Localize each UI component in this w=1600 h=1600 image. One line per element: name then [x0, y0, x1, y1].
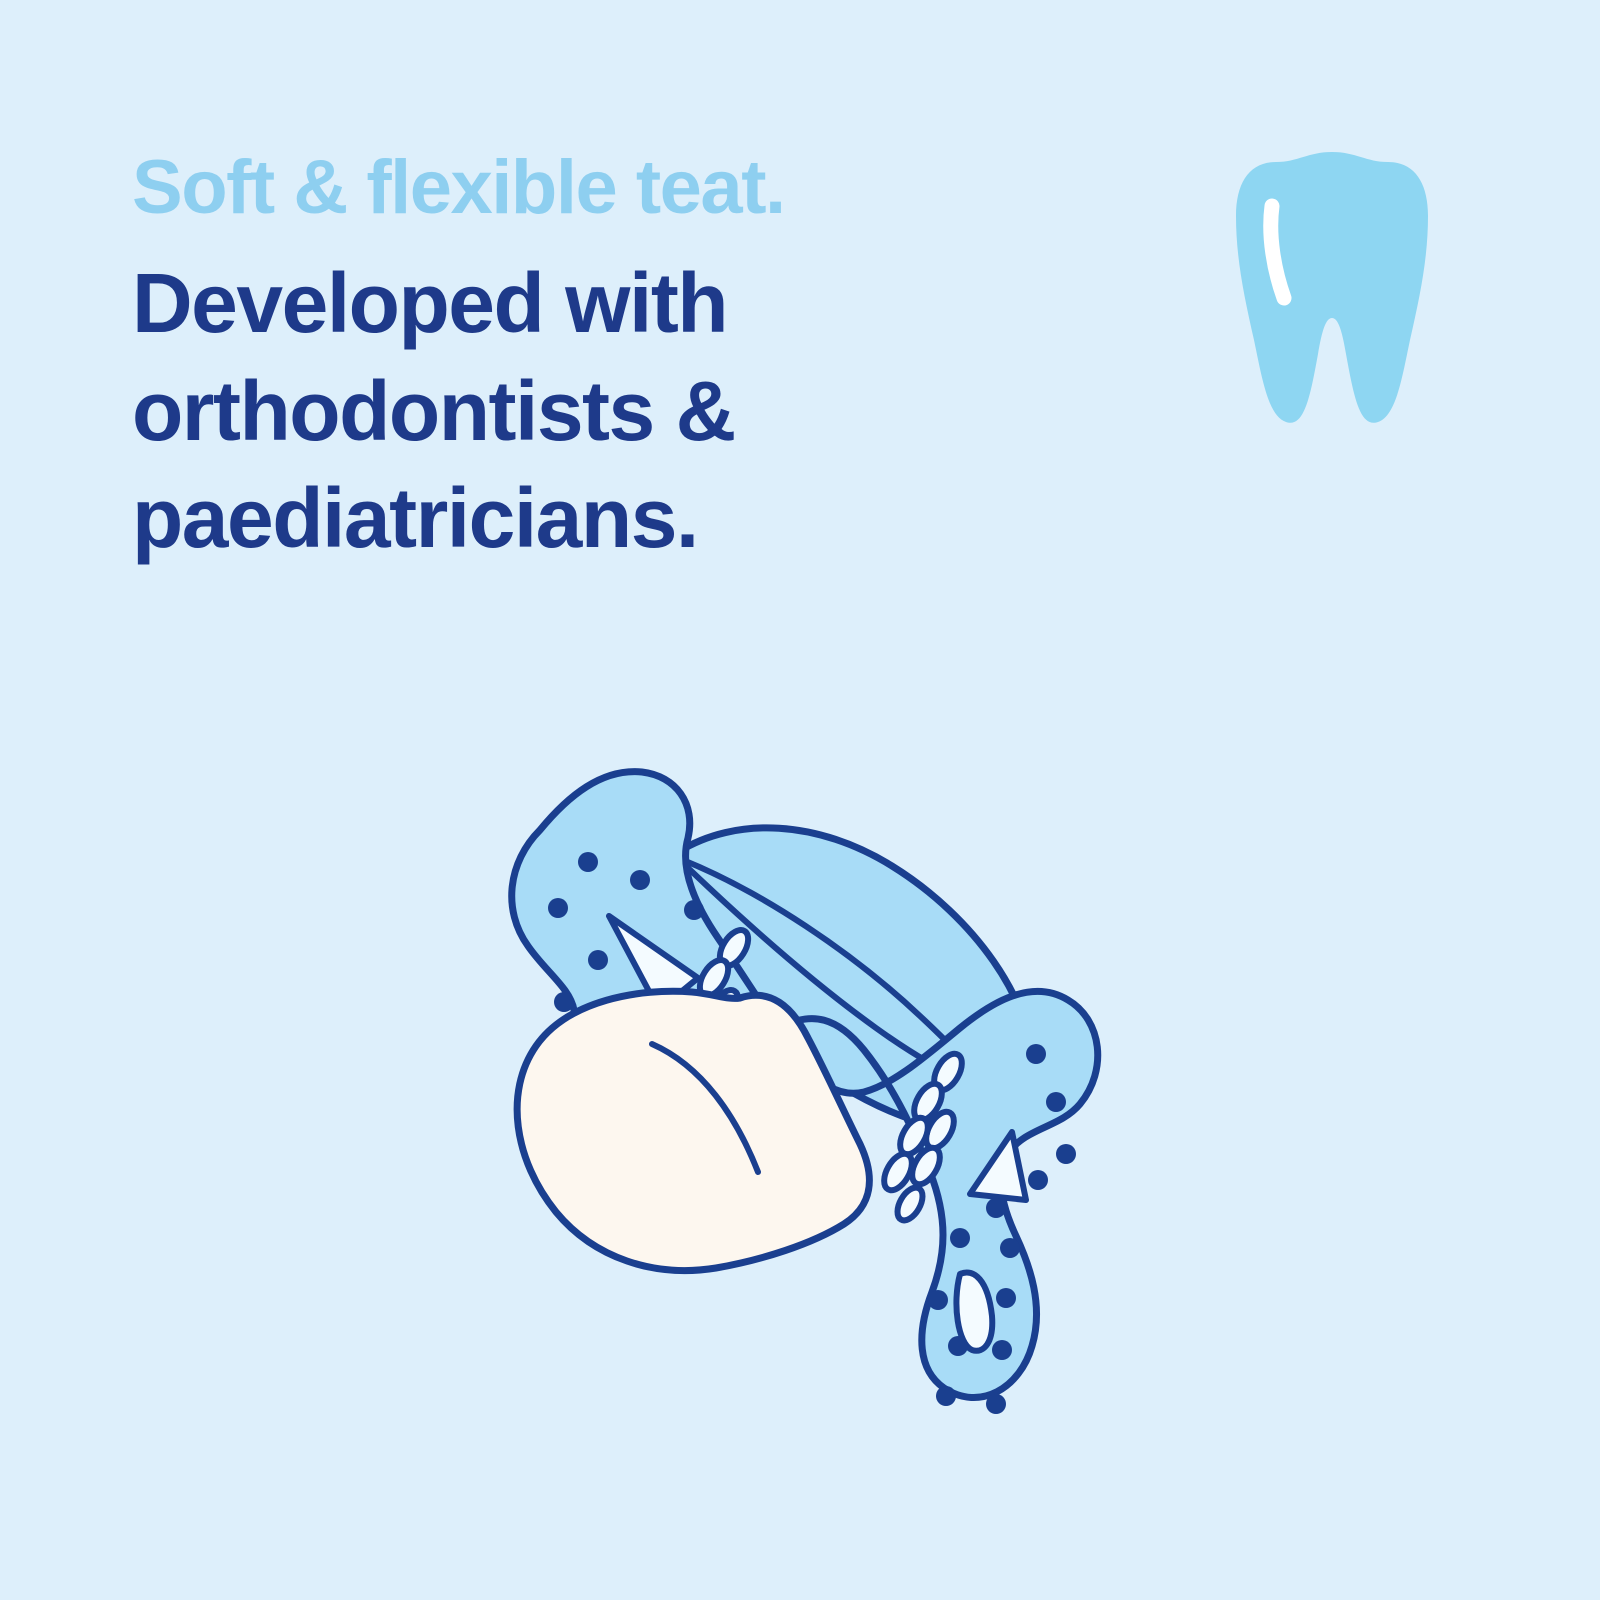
headline-block: Soft & flexible teat. Developed with ort… [132, 150, 1112, 573]
headline-line-1: Developed with [132, 250, 1112, 358]
headline-line-2: orthodontists & [132, 358, 1112, 466]
headline-line-3: paediatricians. [132, 465, 1112, 573]
tooth-icon [1232, 140, 1432, 430]
promo-card: Soft & flexible teat. Developed with ort… [0, 0, 1600, 1600]
eyebrow-text: Soft & flexible teat. [132, 150, 1112, 226]
tooth-body [1236, 152, 1428, 423]
pacifier-illustration [440, 720, 1160, 1500]
page-title: Developed with orthodontists & paediatri… [132, 250, 1112, 573]
